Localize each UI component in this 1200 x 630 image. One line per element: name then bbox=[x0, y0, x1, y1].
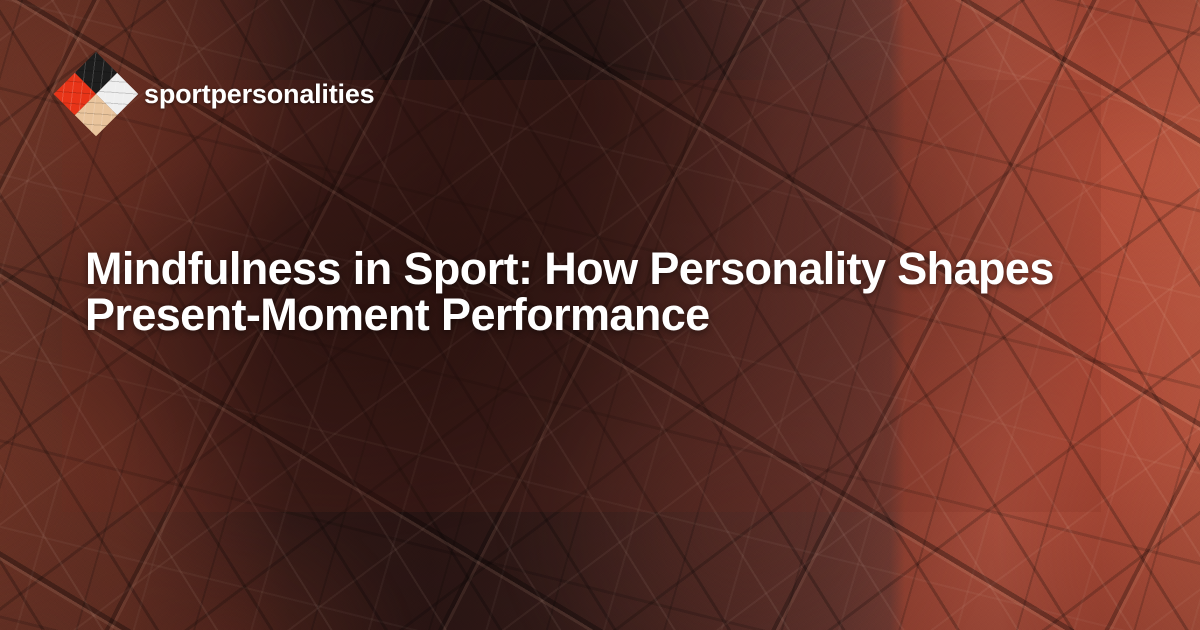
share-card: sportpersonalities Mindfulness in Sport:… bbox=[0, 0, 1200, 630]
brand-header[interactable]: sportpersonalities bbox=[66, 62, 374, 126]
diamond-logo-icon[interactable] bbox=[54, 52, 139, 137]
headline-title: Mindfulness in Sport: How Personality Sh… bbox=[85, 246, 1095, 338]
brand-name-label: sportpersonalities bbox=[144, 81, 374, 108]
